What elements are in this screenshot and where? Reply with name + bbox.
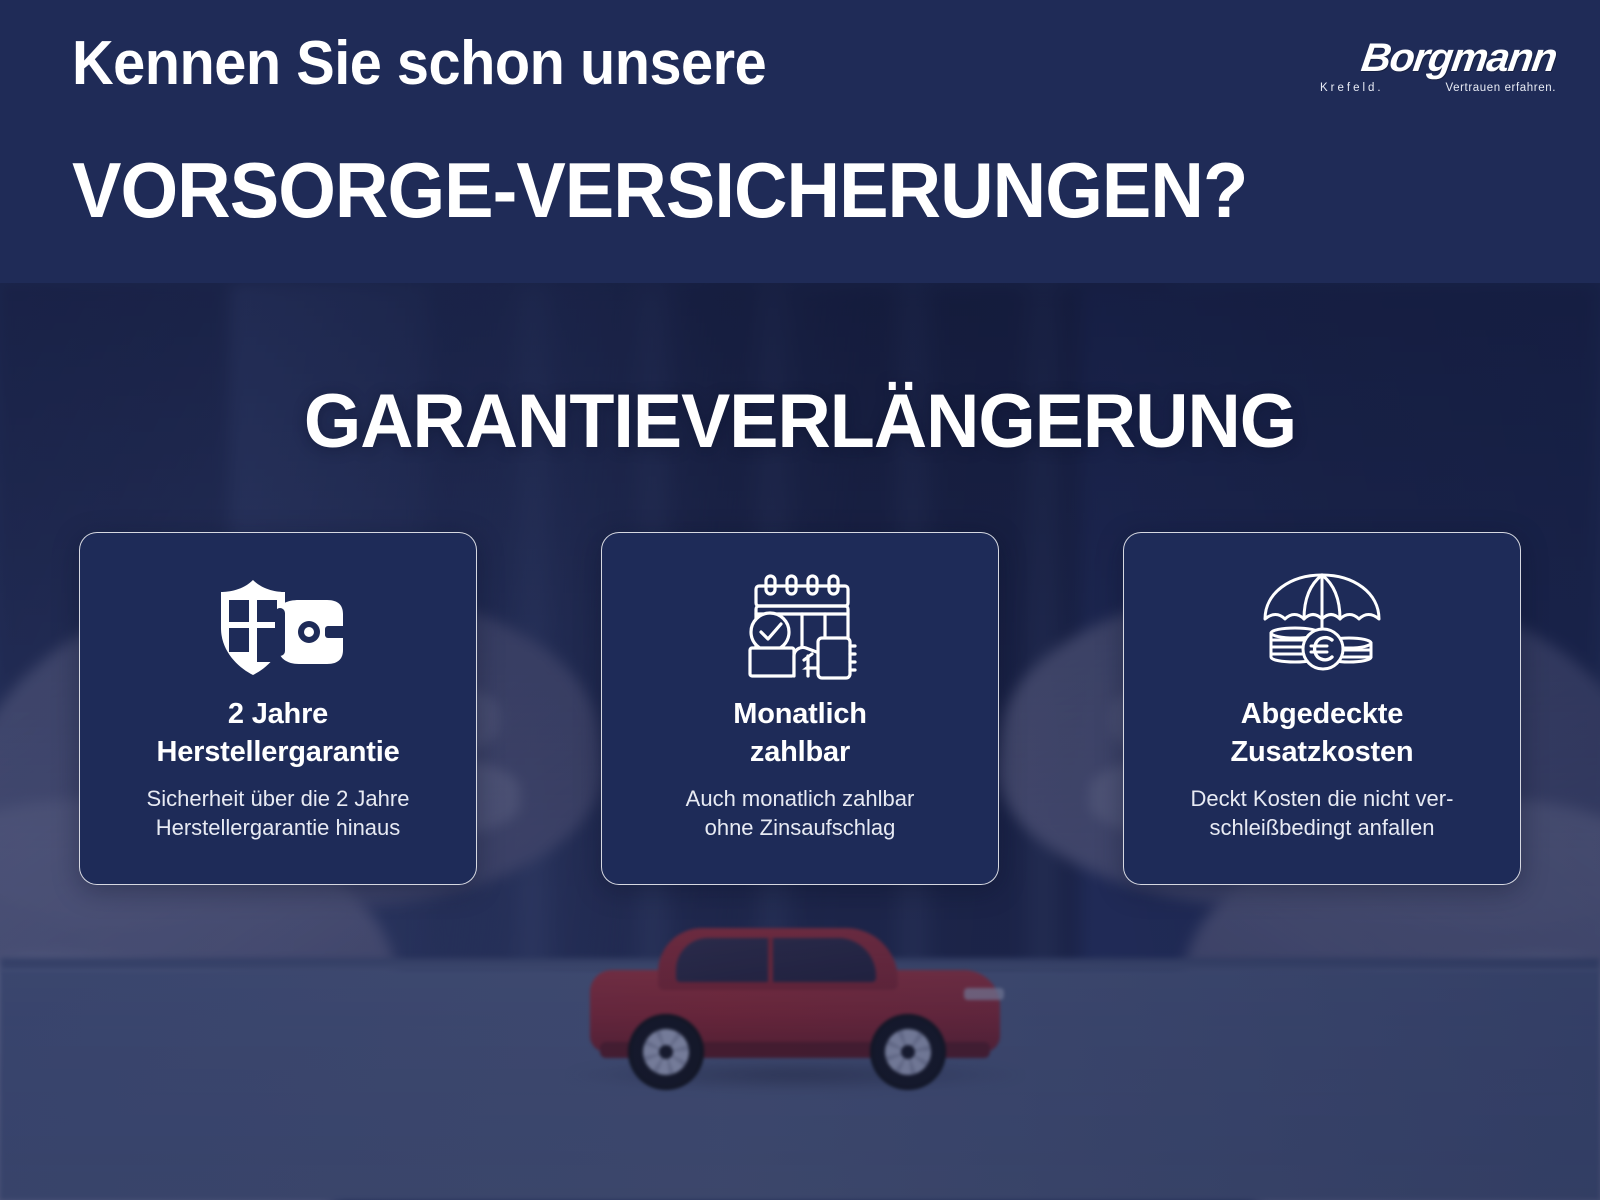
poster-root: Kennen Sie schon unsere VORSORGE-VERSICH… (0, 0, 1600, 1200)
card-desc-monthly: Auch monatlich zahlbar ohne Zinsaufschla… (686, 784, 915, 842)
card-title-line1: 2 Jahre (156, 695, 399, 733)
logo-claim: Vertrauen erfahren. (1446, 82, 1557, 94)
card-desc-line1: Sicherheit über die 2 Jahre (147, 784, 410, 813)
card-title-line1: Abgedeckte (1231, 695, 1414, 733)
logo-tagline-row: Krefeld. Vertrauen erfahren. (1320, 82, 1556, 94)
card-desc-line2: ohne Zinsaufschlag (686, 813, 915, 842)
logo-wordmark: Borgmann (1312, 38, 1558, 78)
feature-card-extra-costs[interactable]: Abgedeckte Zusatzkosten Deckt Kosten die… (1123, 532, 1521, 885)
feature-card-row: 2 Jahre Herstellergarantie Sicherheit üb… (0, 532, 1600, 885)
card-title-line2: zahlbar (733, 733, 867, 771)
card-title-monthly: Monatlich zahlbar (733, 695, 867, 772)
shield-car-icon (213, 567, 343, 689)
card-title-line1: Monatlich (733, 695, 867, 733)
headline-primary: Kennen Sie schon unsere (72, 30, 766, 98)
card-desc-line2: schleißbedingt anfallen (1191, 813, 1454, 842)
card-desc-extra-costs: Deckt Kosten die nicht ver- schleißbedin… (1191, 784, 1454, 842)
page-title: GARANTIEVERLÄNGERUNG (24, 378, 1576, 465)
card-desc-line2: Herstellergarantie hinaus (147, 813, 410, 842)
feature-card-monthly[interactable]: Monatlich zahlbar Auch monatlich zahlbar… (601, 532, 999, 885)
headline-secondary: VORSORGE-VERSICHERUNGEN? (72, 148, 1247, 234)
card-desc-line1: Auch monatlich zahlbar (686, 784, 915, 813)
umbrella-euro-coins-icon (1261, 567, 1383, 689)
brand-logo[interactable]: Borgmann Krefeld. Vertrauen erfahren. (1320, 38, 1556, 114)
card-title-warranty: 2 Jahre Herstellergarantie (156, 695, 399, 772)
feature-card-warranty[interactable]: 2 Jahre Herstellergarantie Sicherheit üb… (79, 532, 477, 885)
card-title-line2: Zusatzkosten (1231, 733, 1414, 771)
logo-city: Krefeld. (1320, 82, 1384, 94)
calendar-check-money-icon (742, 567, 858, 689)
card-title-extra-costs: Abgedeckte Zusatzkosten (1231, 695, 1414, 772)
card-title-line2: Herstellergarantie (156, 733, 399, 771)
header-band: Kennen Sie schon unsere VORSORGE-VERSICH… (0, 0, 1600, 283)
card-desc-warranty: Sicherheit über die 2 Jahre Herstellerga… (147, 784, 410, 842)
card-desc-line1: Deckt Kosten die nicht ver- (1191, 784, 1454, 813)
